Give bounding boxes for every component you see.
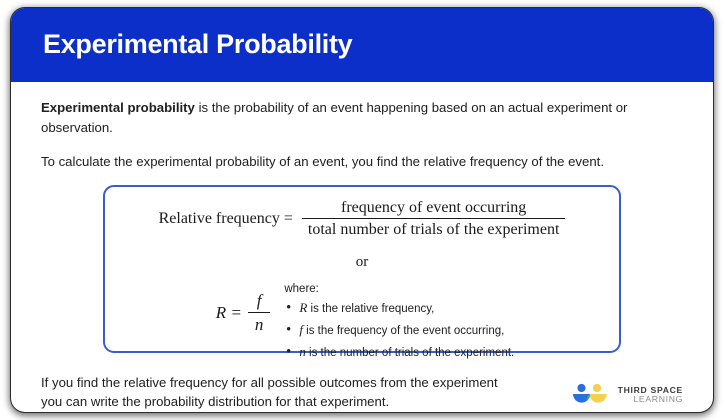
logo-line-2: LEARNING [618, 395, 683, 404]
symbol-r-description: is the relative frequency, [307, 303, 434, 315]
fraction-denominator: total number of trials of the experiment [302, 218, 565, 240]
symbol-f-description: is the frequency of the event occurring, [303, 325, 504, 337]
page-title: Experimental Probability [43, 30, 352, 60]
lesson-card: Experimental Probability Experimental pr… [11, 8, 713, 412]
equation-connector: or [105, 254, 619, 271]
formula-box: Relative frequency = frequency of event … [103, 185, 621, 353]
logo-smiley-icon [569, 382, 611, 408]
symbolic-equation: R = f n [216, 281, 271, 335]
list-item: f is the frequency of the event occurrin… [284, 319, 514, 341]
equation-lhs: Relative frequency = [159, 210, 293, 228]
card-body: Experimental probability is the probabil… [11, 82, 713, 360]
instruction-paragraph: To calculate the experimental probabilit… [41, 152, 683, 172]
list-item: R is the relative frequency, [284, 297, 514, 319]
symbol-n-description: is the number of trials of the experimen… [306, 347, 514, 359]
symbolic-numerator: f [250, 291, 269, 312]
slide-backdrop: Experimental Probability Experimental pr… [0, 0, 724, 420]
definition-list: R is the relative frequency, f is the fr… [284, 297, 514, 362]
symbolic-equation-lhs: R = [216, 303, 242, 323]
where-label: where: [284, 283, 514, 295]
card-header: Experimental Probability [11, 8, 713, 82]
definition-paragraph: Experimental probability is the probabil… [41, 98, 683, 137]
list-item: n is the number of trials of the experim… [284, 341, 514, 363]
relative-frequency-equation: Relative frequency = frequency of event … [105, 199, 619, 241]
footer-paragraph: If you find the relative frequency for a… [41, 373, 511, 412]
logo-wordmark: THIRD SPACE LEARNING [618, 386, 683, 405]
card-footer: If you find the relative frequency for a… [11, 360, 713, 412]
equation-fraction: frequency of event occurring total numbe… [302, 199, 565, 241]
symbolic-denominator: n [248, 312, 271, 335]
fraction-numerator: frequency of event occurring [335, 199, 532, 219]
third-space-learning-logo: THIRD SPACE LEARNING [569, 382, 683, 412]
symbolic-equation-block: R = f n where: R is the relative frequen… [105, 281, 619, 362]
where-block: where: R is the relative frequency, f is… [284, 281, 514, 362]
symbolic-fraction: f n [248, 291, 271, 335]
definition-term: Experimental probability [41, 100, 195, 115]
